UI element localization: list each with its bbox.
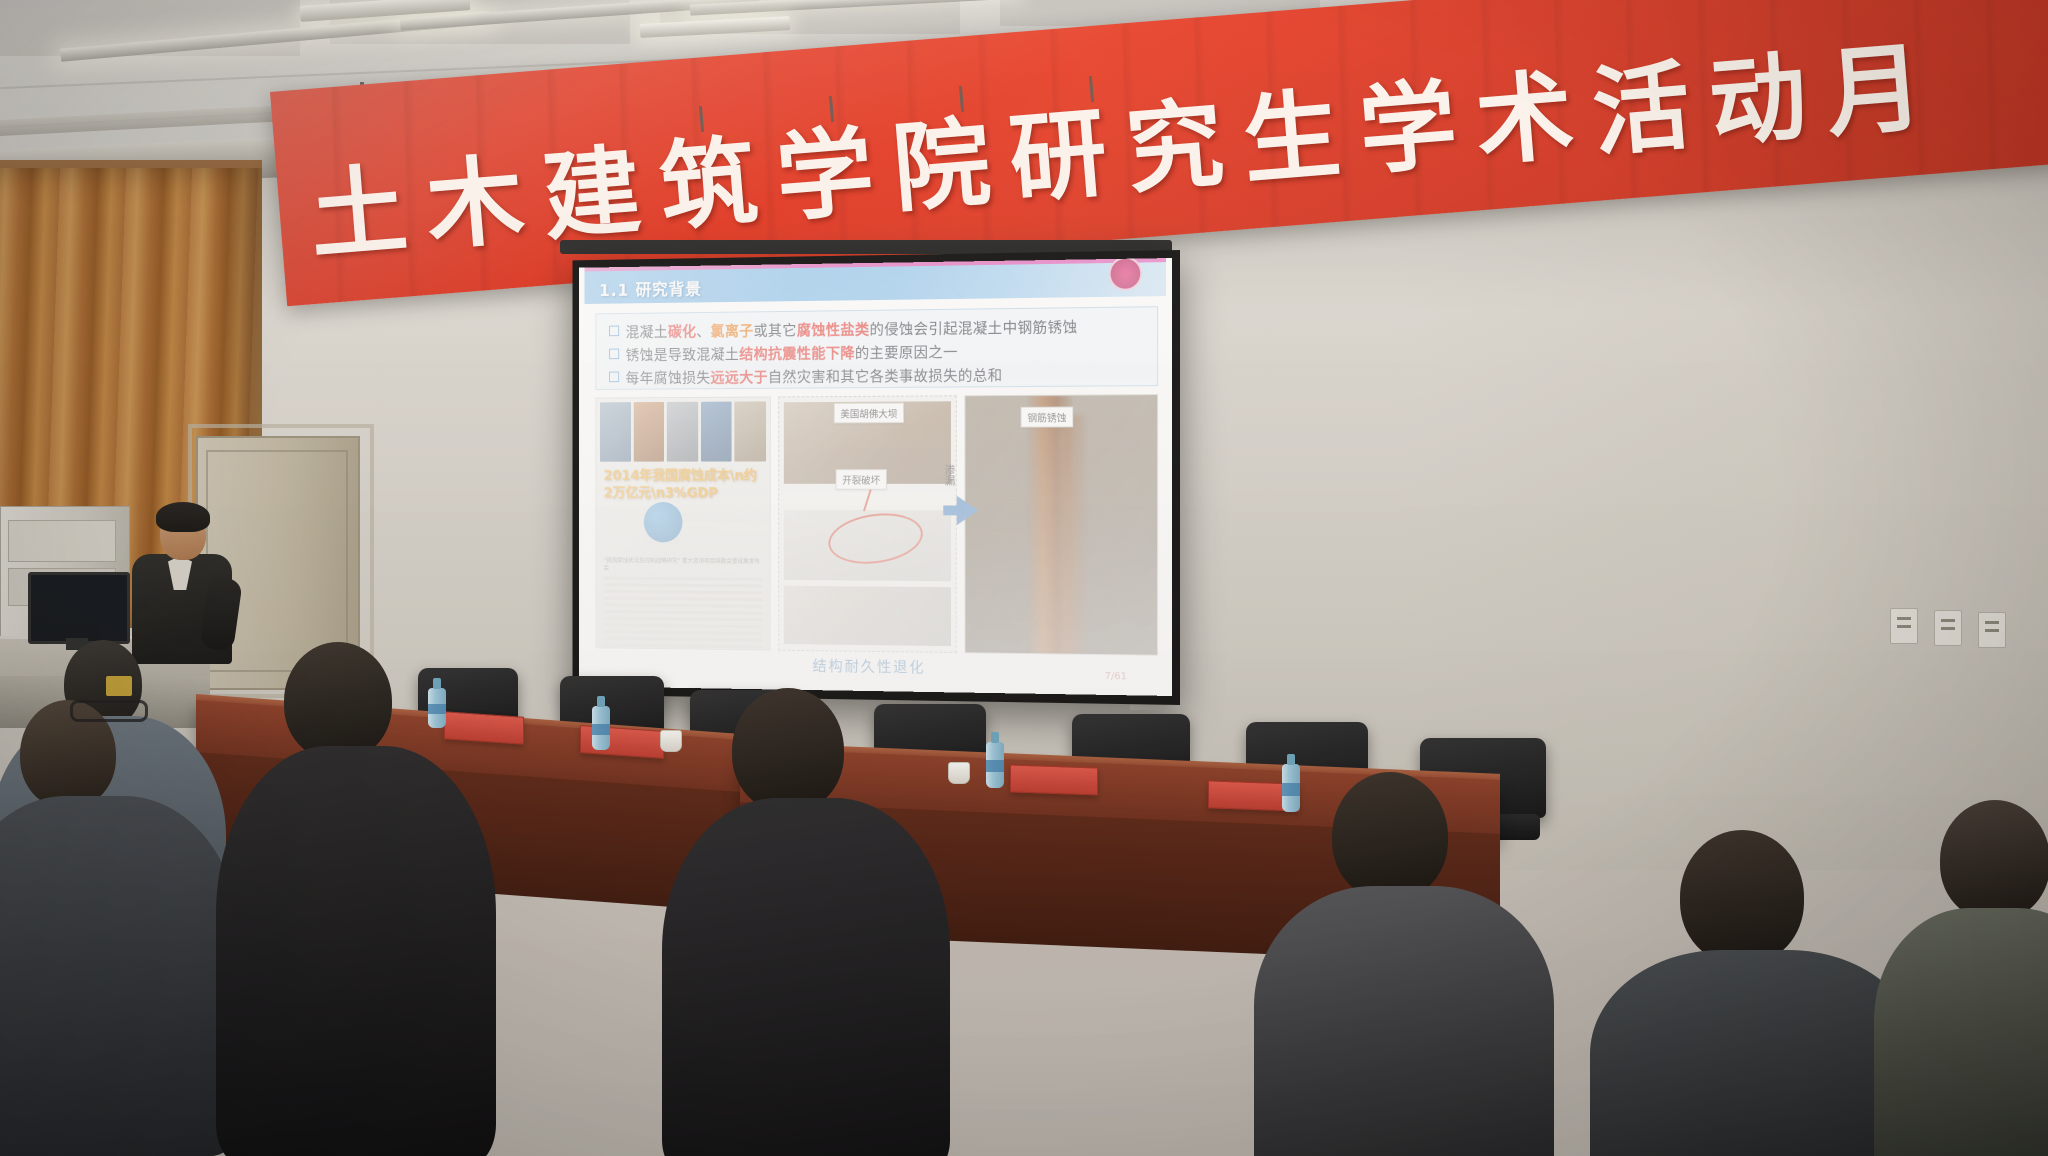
bullet-square-icon: [609, 372, 619, 383]
lecture-hall-photo: 土木建筑学院研究生学术活动月 1.1 研究背景 混凝土碳化、氯离子或其它腐蚀性盐…: [0, 0, 2048, 1156]
bullet-text-run: 氯离子: [711, 322, 754, 340]
projection-screen: 1.1 研究背景 混凝土碳化、氯离子或其它腐蚀性盐类的侵蚀会引起混凝土中钢筋锈蚀…: [579, 258, 1172, 696]
bullet-text-run: 自然灾害和其它各类事故损失的总和: [768, 366, 1003, 385]
bullet-text-run: 的主要原因之一: [855, 343, 958, 362]
bullet-square-icon: [609, 349, 619, 360]
slide-photo-news: 2014年我国腐蚀成本\n约2万亿元\n3%GDP "我国腐蚀状况及控制战略研究…: [595, 397, 770, 651]
water-bottle[interactable]: [1282, 764, 1300, 812]
bottle-label: [986, 760, 1004, 772]
slide-bullet: 每年腐蚀损失远远大于自然灾害和其它各类事故损失的总和: [609, 364, 1002, 387]
globe-graphic-icon: [644, 502, 683, 543]
bottle-label: [1282, 783, 1300, 795]
concrete-photo: [784, 586, 951, 646]
eyeglasses-icon: [70, 700, 148, 722]
bullet-text-run: 腐蚀性盐类: [797, 321, 870, 339]
water-bottle[interactable]: [592, 706, 610, 750]
slide-page-number: 7/61: [1105, 671, 1127, 682]
water-bottle[interactable]: [428, 688, 446, 728]
presenter-hair: [156, 502, 210, 532]
presentation-slide: 1.1 研究背景 混凝土碳化、氯离子或其它腐蚀性盐类的侵蚀会引起混凝土中钢筋锈蚀…: [579, 258, 1172, 696]
bullet-text-run: 结构抗震性能下降: [739, 344, 855, 363]
news-headline-line: 2014年我国腐蚀成本\n约2万亿元\n3%GDP: [604, 468, 757, 501]
flow-arrow-icon: [957, 496, 978, 526]
lanyard-badge: [106, 676, 132, 696]
bullet-square-icon: [609, 326, 619, 337]
news-subtitle: "我国腐蚀状况及控制战略研究" 重大咨询项目结题会暨成果发布会: [604, 557, 763, 574]
power-socket[interactable]: [1890, 608, 1918, 644]
bottle-label: [592, 724, 610, 735]
rust-stain: [1063, 415, 1087, 653]
slide-photo-rebar: [964, 394, 1158, 656]
power-socket[interactable]: [1934, 610, 1962, 646]
news-headline: 2014年我国腐蚀成本\n约2万亿元\n3%GDP: [604, 467, 761, 502]
news-body-lines: [604, 577, 763, 651]
podium-monitor: [28, 572, 130, 644]
bullet-text-run: 每年腐蚀损失: [626, 369, 711, 387]
label-leak: 渗漏: [941, 464, 956, 486]
paper-cup[interactable]: [660, 730, 682, 752]
label-rebar: 钢筋锈蚀: [1021, 407, 1074, 428]
bullet-text-run: 、: [696, 323, 710, 341]
bullet-text-run: 远远大于: [711, 368, 768, 386]
slide-bullet: 混凝土碳化、氯离子或其它腐蚀性盐类的侵蚀会引起混凝土中钢筋锈蚀: [609, 316, 1078, 342]
av-unit: [8, 520, 116, 562]
power-socket[interactable]: [1978, 612, 2006, 648]
bullet-text-run: 混凝土: [626, 323, 668, 341]
label-dam: 美国胡佛大坝: [834, 403, 904, 424]
bullet-text-run: 锈蚀是导致混凝土: [626, 345, 740, 363]
paper-cup[interactable]: [948, 762, 970, 784]
slide-bullet-box: 混凝土碳化、氯离子或其它腐蚀性盐类的侵蚀会引起混凝土中钢筋锈蚀 锈蚀是导致混凝土…: [595, 306, 1158, 390]
water-bottle[interactable]: [986, 742, 1004, 788]
news-thumbnail-strip: [600, 401, 766, 461]
slide-caption: 结构耐久性退化: [579, 652, 1172, 681]
table-nameplate: [444, 711, 524, 745]
table-nameplate: [1010, 764, 1098, 795]
bottle-label: [428, 704, 446, 714]
slide-title: 1.1 研究背景: [599, 275, 702, 301]
bullet-text-run: 的侵蚀会引起混凝土中钢筋锈蚀: [870, 318, 1078, 338]
slide-photo-dam-group: 美国胡佛大坝 开裂破坏: [778, 395, 957, 653]
bullet-text-run: 或其它: [754, 322, 797, 340]
slide-bullet: 锈蚀是导致混凝土结构抗震性能下降的主要原因之一: [609, 341, 958, 365]
bullet-text-run: 碳化: [668, 323, 696, 341]
label-crack: 开裂破坏: [836, 469, 887, 490]
